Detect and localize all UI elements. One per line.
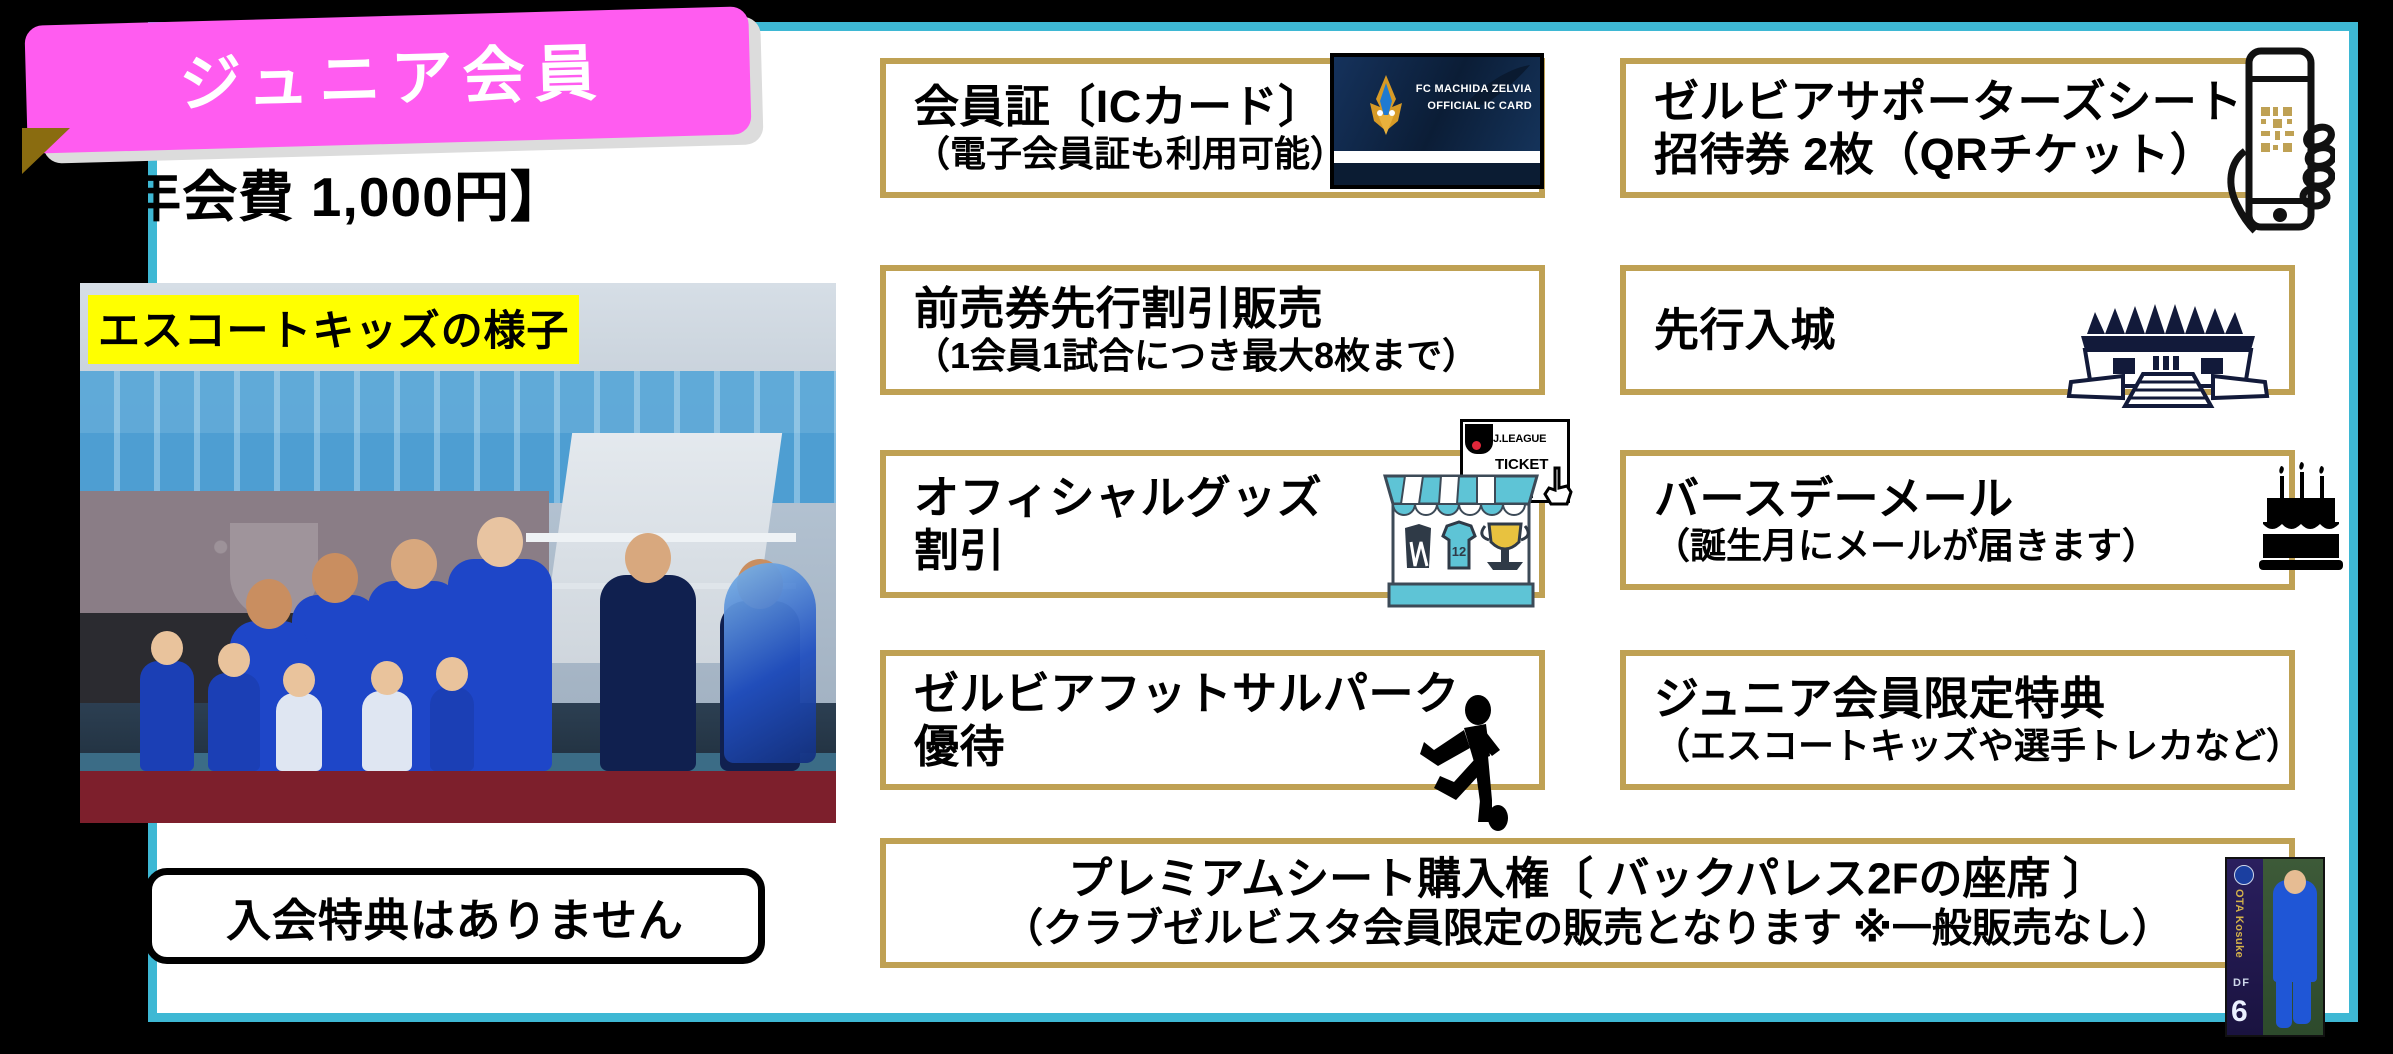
player-position: DF xyxy=(2233,977,2250,989)
shop-icon: 12 xyxy=(1375,462,1547,612)
player-number: 6 xyxy=(2231,997,2248,1027)
ice-trophy xyxy=(724,563,816,763)
jersey-number: 12 xyxy=(1452,544,1466,559)
benefit-text-ic-card: 会員証〔ICカード〕 （電子会員証も利用可能） xyxy=(914,80,1346,176)
ic-card-caption: FC MACHIDA ZELVIA OFFICIAL IC CARD xyxy=(1416,81,1532,114)
benefit-text-birthday-mail: バースデーメール （誕生月にメールが届きます） xyxy=(1654,472,2158,568)
benefit-text-futsal-park: ゼルビアフットサルパーク 優待 xyxy=(914,667,1459,773)
membership-banner: ジュニア会員 xyxy=(18,8,788,168)
running-player-icon xyxy=(1400,692,1510,832)
poster-root: ジュニア会員 【年会費 1,000円】 エスコートキッズの様子 入会特典はあ xyxy=(0,0,2393,1054)
benefit-box-junior-exclusive[interactable]: ジュニア会員限定特典 （エスコートキッズや選手トレカなど） xyxy=(1620,650,2295,790)
escort-kids-photo: エスコートキッズの様子 xyxy=(80,283,836,823)
banner-title: ジュニア会員 xyxy=(169,43,608,117)
benefit-box-premium-seat[interactable]: プレミアムシート購入権〔 バックパレス2Fの座席 〕 （クラブゼルビスタ会員限定… xyxy=(880,838,2295,968)
stadium-icon xyxy=(2065,290,2271,410)
corner-fold-accent xyxy=(22,128,70,174)
benefit-text-early-entry: 先行入城 xyxy=(1654,303,1836,356)
birthday-cake-icon xyxy=(2255,462,2347,574)
benefit-box-supporters-seat[interactable]: ゼルビアサポーターズシート 招待券 2枚（QRチケット） xyxy=(1620,58,2295,198)
player-name: OTA Kosuke xyxy=(2233,889,2245,958)
club-crest-icon xyxy=(2234,865,2254,885)
jleague-wordmark: J.LEAGUE xyxy=(1493,434,1546,445)
benefit-box-advance-ticket[interactable]: 前売券先行割引販売 （1会員1試合につき最大8枚まで） xyxy=(880,265,1545,395)
no-joining-bonus-label: 入会特典はありません xyxy=(226,884,684,949)
benefit-text-goods-discount: オフィシャルグッズ 割引 xyxy=(914,471,1322,577)
player-trading-card: OTA Kosuke DF 6 xyxy=(2225,857,2325,1037)
banner-pill: ジュニア会員 xyxy=(24,6,751,154)
qr-phone-icon xyxy=(2215,45,2335,241)
zelvia-hawk-icon xyxy=(1364,73,1408,143)
benefit-text-supporters-seat: ゼルビアサポーターズシート 招待券 2枚（QRチケット） xyxy=(1654,75,2243,181)
annual-fee-text: 【年会費 1,000円】 xyxy=(70,152,790,232)
j-mark-icon xyxy=(1465,424,1493,454)
benefit-text-junior-exclusive: ジュニア会員限定特典 （エスコートキッズや選手トレカなど） xyxy=(1654,672,2302,768)
no-joining-bonus-pill: 入会特典はありません xyxy=(145,868,765,964)
benefit-text-premium-seat: プレミアムシート購入権〔 バックパレス2Fの座席 〕 （クラブゼルビスタ会員限定… xyxy=(886,853,2289,952)
benefit-box-birthday-mail[interactable]: バースデーメール （誕生月にメールが届きます） xyxy=(1620,450,2295,590)
benefit-text-advance-ticket: 前売券先行割引販売 （1会員1試合につき最大8枚まで） xyxy=(914,282,1478,378)
ic-card-image: FC MACHIDA ZELVIA OFFICIAL IC CARD xyxy=(1330,53,1544,189)
photo-caption: エスコートキッズの様子 xyxy=(88,295,579,364)
